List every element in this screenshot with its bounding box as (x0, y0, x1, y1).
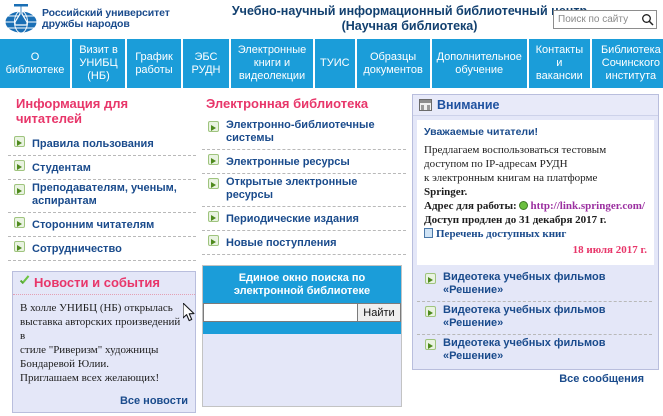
list-item: Правила пользования (8, 132, 196, 156)
nav-item-3[interactable]: График работы (127, 39, 183, 88)
attention-platform-name: Springer. (424, 186, 467, 198)
list-item-link[interactable]: Сотрудничество (32, 243, 122, 256)
attention-text: Предлагаем воспользоваться тестовым дост… (424, 143, 647, 257)
arrow-bullet-icon (14, 136, 25, 147)
middle-column: Электронная библиотека Электронно-библио… (196, 94, 406, 406)
list-item: Преподавателям, ученым, аспирантам (8, 180, 196, 213)
arrow-bullet-icon (14, 217, 25, 228)
attention-paragraph-line-3: к электронным книгам на платформе (424, 171, 647, 185)
nav-item-5[interactable]: Электронные книги и видеолекции (231, 39, 315, 88)
attention-panel-body: Уважаемые читатели! Предлагаем воспользо… (417, 120, 654, 265)
window-panel-icon (419, 99, 432, 111)
all-messages-link[interactable]: Все сообщения (417, 367, 652, 385)
arrow-bullet-icon (14, 184, 25, 195)
electronic-library-title: Электронная библиотека (206, 96, 406, 111)
list-item-link[interactable]: Электронные ресурсы (226, 156, 350, 169)
list-item: Открытые электронные ресурсы (202, 174, 406, 207)
list-item-link[interactable]: Студентам (32, 162, 91, 175)
news-line-1: В холле УНИБЦ (НБ) открылась (20, 301, 188, 315)
site-logo[interactable]: Российский университет дружбы народов (0, 3, 176, 35)
arrow-bullet-icon (208, 235, 219, 246)
news-line-3: стиле "Риверизм" художницы (20, 343, 188, 357)
list-item-link[interactable]: Видеотека учебных фильмов «Решение» (443, 337, 648, 363)
list-item: Электронные ресурсы (202, 150, 406, 174)
arrow-bullet-icon (14, 241, 25, 252)
attention-date: 18 июля 2017 г. (424, 243, 647, 257)
site-search-input[interactable] (554, 11, 638, 28)
attention-address-label: Адрес для работы: (424, 200, 517, 212)
attention-panel: Внимание Уважаемые читатели! Предлагаем … (412, 94, 659, 370)
arrow-bullet-icon (208, 154, 219, 165)
arrow-bullet-icon (425, 306, 436, 317)
list-item-link[interactable]: Периодические издания (226, 213, 359, 226)
unified-search-input[interactable] (203, 303, 357, 322)
attention-access-until: Доступ продлен до 31 декабря 2017 г. (424, 214, 606, 226)
video-library-list: Видеотека учебных фильмов «Решение»Видео… (417, 269, 652, 367)
document-icon (424, 228, 433, 238)
list-item-link[interactable]: Новые поступления (226, 237, 337, 250)
nav-item-9[interactable]: Контакты и вакансии (529, 39, 592, 88)
attention-panel-header: Внимание (413, 95, 658, 116)
arrow-bullet-icon (425, 273, 436, 284)
globe-icon (519, 201, 528, 210)
springer-url-link[interactable]: http://link.springer.com/ (530, 200, 645, 212)
news-line-2: выставка авторских произведений в (20, 315, 188, 343)
list-item: Сторонним читателям (8, 213, 196, 237)
arrow-bullet-icon (208, 121, 219, 132)
list-item: Периодические издания (202, 207, 406, 231)
news-panel: Новости и события В холле УНИБЦ (НБ) отк… (12, 271, 196, 413)
attention-paragraph-line-1: Предлагаем воспользоваться тестовым (424, 143, 647, 157)
unified-search-title-line-1: Единое окно поиска по (211, 272, 393, 285)
left-column: Информация для читателей Правила пользов… (0, 94, 196, 406)
list-item-link[interactable]: Преподавателям, ученым, аспирантам (32, 182, 192, 208)
attention-address-row: Адрес для работы: http://link.springer.c… (424, 199, 647, 213)
reader-info-list: Правила пользованияСтудентамПреподавател… (8, 132, 196, 261)
news-line-4: Бондаревой Юлии. (20, 357, 188, 371)
page-root: Российский университет дружбы народов Уч… (0, 0, 663, 416)
site-search[interactable] (553, 10, 657, 29)
list-item-link[interactable]: Электронно-библиотечные системы (226, 119, 402, 145)
logo-line-2: дружбы народов (42, 19, 170, 31)
list-item-link[interactable]: Видеотека учебных фильмов «Решение» (443, 271, 648, 297)
arrow-bullet-icon (425, 339, 436, 350)
electronic-library-list: Электронно-библиотечные системыЭлектронн… (202, 117, 406, 255)
nav-item-8[interactable]: Дополнительное обучение (432, 39, 529, 88)
nav-item-6[interactable]: ТУИС (315, 39, 357, 88)
list-item: Электронно-библиотечные системы (202, 117, 406, 150)
main-content: Информация для читателей Правила пользов… (0, 88, 663, 406)
arrow-bullet-icon (208, 178, 219, 189)
list-item: Новые поступления (202, 231, 406, 255)
list-item: Видеотека учебных фильмов «Решение» (417, 269, 652, 302)
list-item: Видеотека учебных фильмов «Решение» (417, 302, 652, 335)
list-item-link[interactable]: Правила пользования (32, 138, 154, 151)
unified-search-submit-button[interactable]: Найти (357, 303, 401, 322)
attention-panel-title: Внимание (437, 98, 499, 112)
attention-paragraph-line-2: доступом по IP-адресам РУДН (424, 157, 647, 171)
list-item: Сотрудничество (8, 237, 196, 261)
list-item-link[interactable]: Сторонним читателям (32, 219, 154, 232)
logo-text: Российский университет дружбы народов (42, 8, 170, 31)
news-panel-header: Новости и события (13, 272, 195, 295)
attention-greeting: Уважаемые читатели! (424, 126, 647, 138)
unified-search-panel-footer-strip (203, 322, 401, 334)
right-column: Внимание Уважаемые читатели! Предлагаем … (406, 94, 663, 406)
nav-item-4[interactable]: ЭБС РУДН (183, 39, 231, 88)
green-check-icon (19, 277, 32, 288)
attention-catalog-row: Перечень доступных книг (424, 227, 647, 241)
main-navigation: О библиотекеВизит в УНИБЦ (НБ)График раб… (0, 38, 663, 88)
site-header: Российский университет дружбы народов Уч… (0, 0, 663, 38)
left-column-title: Информация для читателей (16, 96, 196, 126)
list-item: Видеотека учебных фильмов «Решение» (417, 335, 652, 367)
nav-item-1[interactable]: О библиотеке (0, 39, 72, 88)
news-panel-title: Новости и события (34, 275, 160, 290)
list-item-link[interactable]: Видеотека учебных фильмов «Решение» (443, 304, 648, 330)
video-library-links: Видеотека учебных фильмов «Решение»Видео… (413, 265, 658, 385)
news-line-5: Приглашаем всех желающих! (20, 371, 188, 385)
all-news-link[interactable]: Все новости (120, 395, 188, 407)
search-icon[interactable] (638, 11, 656, 28)
news-body: В холле УНИБЦ (НБ) открылась выставка ав… (13, 295, 195, 385)
unified-search-form: Найти (203, 303, 401, 322)
arrow-bullet-icon (14, 160, 25, 171)
available-books-link[interactable]: Перечень доступных книг (436, 228, 566, 240)
list-item: Студентам (8, 156, 196, 180)
nav-item-10[interactable]: Библиотека Сочинского института (592, 39, 663, 88)
nav-item-7[interactable]: Образцы документов (357, 39, 432, 88)
arrow-bullet-icon (208, 211, 219, 222)
list-item-link[interactable]: Открытые электронные ресурсы (226, 176, 402, 202)
unified-search-title-line-2: электронной библиотеке (211, 285, 393, 298)
unified-search-title: Единое окно поиска по электронной библио… (203, 266, 401, 303)
unified-search-panel: Единое окно поиска по электронной библио… (202, 265, 402, 407)
nav-item-2[interactable]: Визит в УНИБЦ (НБ) (72, 39, 127, 88)
rudn-flask-globe-logo-icon (4, 3, 38, 35)
